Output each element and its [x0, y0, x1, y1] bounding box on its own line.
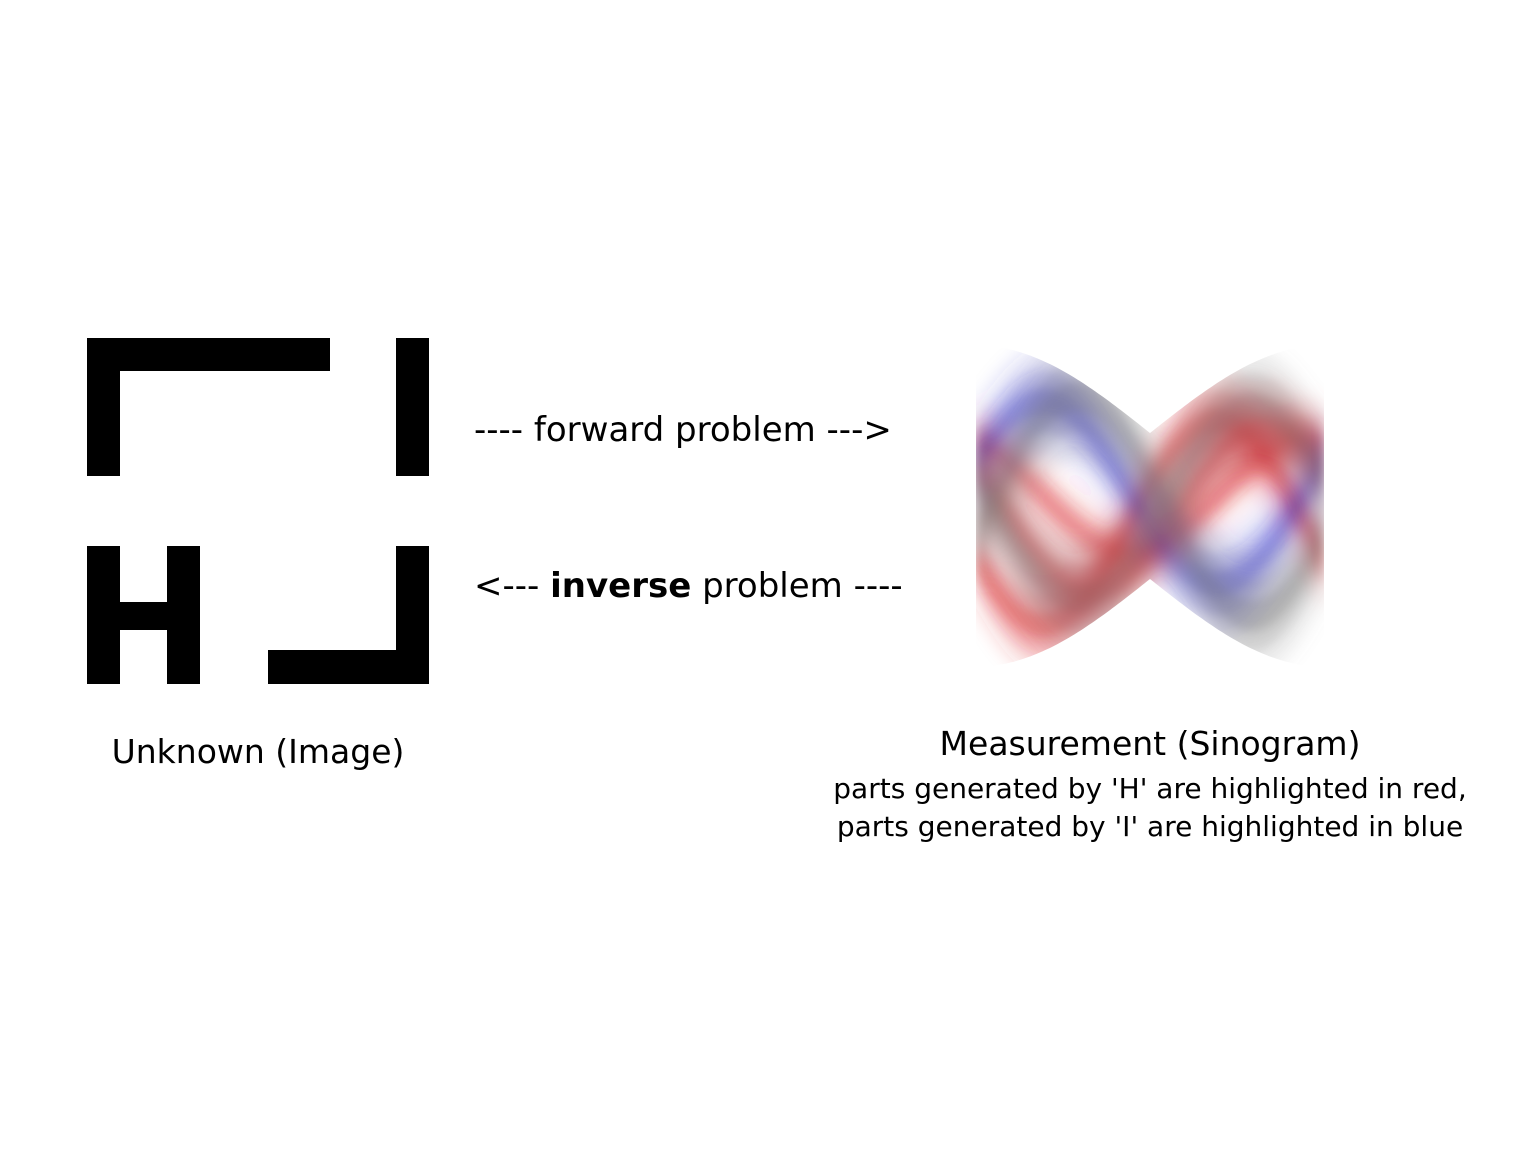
sinogram-canvas [962, 330, 1338, 682]
sinogram-subcaption: parts generated by 'H' are highlighted i… [790, 770, 1510, 846]
forward-problem-arrow-label: ---- forward problem ---> [474, 408, 892, 452]
bracket-top-left-vertical [87, 338, 120, 476]
letter-h-crossbar [87, 602, 200, 630]
sinogram-bands [962, 330, 1338, 682]
inverse-problem-arrow-label: <--- inverse problem ---- [474, 564, 903, 608]
inverse-arrow-suffix: problem ---- [691, 566, 902, 606]
bracket-top-left-horizontal [87, 338, 330, 371]
inverse-arrow-prefix: <--- [474, 566, 550, 606]
unknown-image-phantom [87, 338, 429, 684]
sinogram-caption: Measurement (Sinogram) [790, 720, 1510, 768]
sinogram-plot [962, 330, 1338, 682]
sinogram-subcaption-line-2: parts generated by 'I' are highlighted i… [790, 808, 1510, 846]
unknown-image-caption: Unknown (Image) [0, 730, 516, 774]
bracket-bottom-right-horizontal [268, 650, 429, 684]
sinogram-subcaption-line-1: parts generated by 'H' are highlighted i… [790, 770, 1510, 808]
inverse-keyword: inverse [550, 566, 691, 606]
letter-i-stem [396, 338, 429, 476]
